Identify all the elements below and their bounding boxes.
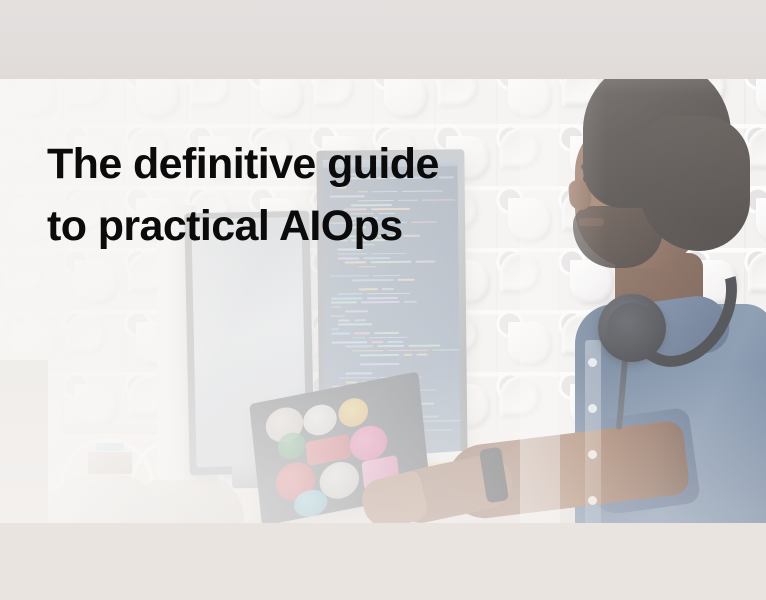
code-token <box>404 301 417 303</box>
photo-left-mask <box>0 360 48 524</box>
code-token <box>331 341 367 343</box>
wall-tile <box>62 248 124 310</box>
hair-back <box>640 116 750 251</box>
code-token <box>432 349 460 351</box>
code-token <box>361 301 400 303</box>
shirt-button-2 <box>588 404 597 413</box>
code-token <box>352 350 383 352</box>
code-token <box>359 354 399 356</box>
wall-tile <box>62 310 124 372</box>
code-token <box>331 275 369 277</box>
chair-leg-left <box>88 452 132 474</box>
code-token <box>354 332 370 334</box>
wall-tile <box>0 248 62 310</box>
code-token <box>408 345 440 347</box>
code-token <box>377 345 404 347</box>
lips <box>578 218 604 226</box>
code-token <box>367 292 410 294</box>
code-token <box>331 306 341 308</box>
code-token <box>344 262 366 264</box>
code-token <box>352 337 365 339</box>
code-token <box>387 341 403 343</box>
code-token <box>338 293 363 295</box>
code-token <box>331 315 345 317</box>
shirt-button-4 <box>588 496 597 505</box>
code-token <box>369 336 407 338</box>
hero-banner: The definitive guideto practical AIOps <box>0 0 766 600</box>
shirt-button-1 <box>588 358 597 367</box>
code-token <box>367 297 398 299</box>
headline-text: The definitive guide <box>47 140 439 188</box>
chair-accent-left <box>96 443 124 451</box>
code-token <box>370 261 411 263</box>
headphone-earcup <box>598 294 666 362</box>
person <box>545 58 766 524</box>
code-token <box>359 266 376 268</box>
code-token <box>331 333 350 335</box>
code-token <box>387 349 428 351</box>
code-token <box>374 332 399 334</box>
bottom-band <box>0 523 766 600</box>
code-token <box>338 324 372 326</box>
code-token <box>382 288 394 290</box>
code-token <box>339 377 376 379</box>
code-token <box>360 363 400 365</box>
code-token <box>363 257 390 259</box>
code-token <box>337 257 359 259</box>
code-token <box>331 302 357 304</box>
code-token <box>345 346 373 348</box>
page-title: The definitive guideto practical AIOps <box>47 133 477 257</box>
code-token <box>403 354 412 356</box>
code-token <box>346 372 373 374</box>
code-token <box>345 310 368 312</box>
code-token <box>331 297 363 299</box>
code-token <box>338 319 350 321</box>
code-token <box>398 279 415 281</box>
code-token <box>371 341 383 343</box>
shirt-button-3 <box>588 450 597 459</box>
code-token <box>416 354 427 356</box>
code-token <box>352 279 394 281</box>
code-token <box>373 275 401 277</box>
code-token <box>331 328 339 330</box>
code-token <box>354 319 366 321</box>
top-band <box>0 0 766 79</box>
code-token <box>415 261 435 263</box>
headline-text-line2: to practical AIOps <box>47 202 403 250</box>
code-token <box>359 288 378 290</box>
code-token <box>423 420 460 422</box>
